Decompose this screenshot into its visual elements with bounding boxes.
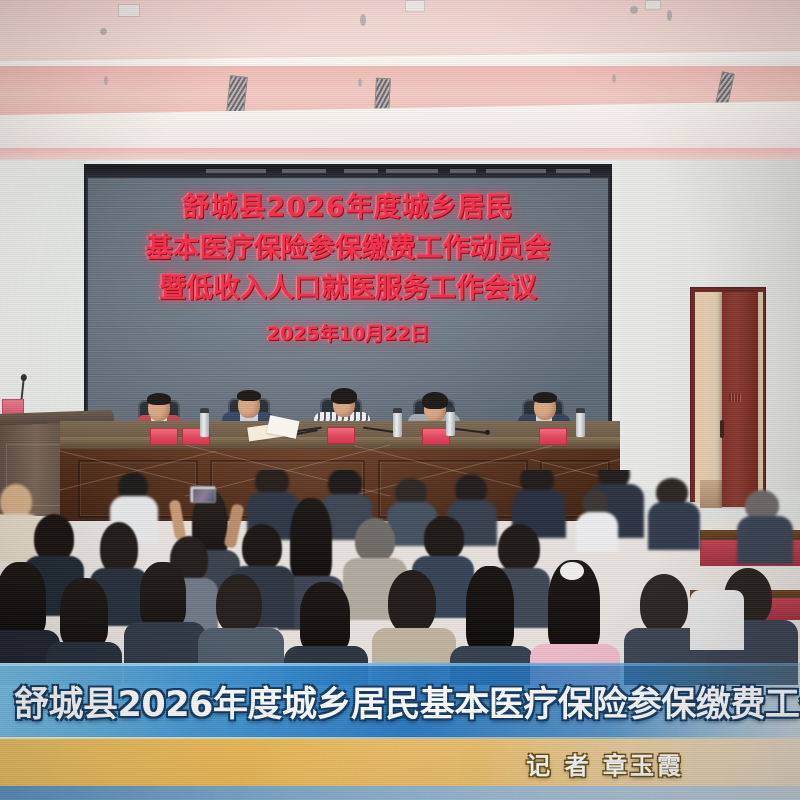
banner-text-block: 舒城县2026年度城乡居民 基本医疗保险参保缴费工作动员会 暨低收入人口就医服务…	[88, 194, 608, 344]
door-sign-icon	[729, 393, 741, 402]
banner-line-1: 舒城县2026年度城乡居民	[92, 194, 604, 222]
ceiling-fixture-icon	[358, 78, 362, 87]
thermos-flask	[576, 412, 585, 437]
banner-line-3: 暨低收入人口就医服务工作会议	[92, 275, 604, 303]
nameplate	[327, 427, 355, 444]
ceiling-fixture-icon	[405, 0, 425, 12]
official-hair	[237, 390, 261, 401]
door-handle[interactable]	[720, 420, 724, 438]
reporter-credit: 记 者 章玉霞	[526, 742, 684, 784]
ceiling-fixture-icon	[104, 76, 108, 85]
banner-line-2: 基本医疗保险参保缴费工作动员会	[92, 235, 604, 263]
hair-scrunchie	[560, 562, 584, 580]
official-hair	[422, 392, 448, 409]
ceiling-fixture-icon	[612, 74, 616, 83]
official-hair	[533, 392, 557, 403]
lower-third-bottom-strip	[0, 786, 800, 800]
thermos-flask	[200, 412, 209, 437]
official-hair	[331, 388, 357, 404]
news-headline: 舒城县2026年度城乡居民基本医疗保险参保缴费工作动员会召开	[14, 668, 794, 734]
phone-screen	[193, 489, 215, 502]
thermos-flask	[393, 412, 402, 437]
ceiling-fixture-icon	[360, 14, 366, 26]
ceiling-fixture-icon	[645, 0, 661, 10]
led-screen-bezel	[86, 166, 610, 178]
official-hair	[147, 393, 171, 405]
nameplate	[150, 428, 178, 445]
lower-third-blue-highlight	[0, 663, 800, 666]
audience-area	[0, 470, 800, 685]
ceiling-fixture-icon	[118, 4, 140, 17]
smartphone	[190, 486, 216, 503]
audience-arm	[169, 499, 187, 540]
thermos-flask	[446, 411, 455, 436]
banner-date: 2025年10月22日	[92, 325, 604, 344]
ceiling-fixture-icon	[100, 28, 107, 35]
nameplate	[539, 428, 567, 445]
broadcast-frame: 舒城县2026年度城乡居民 基本医疗保险参保缴费工作动员会 暨低收入人口就医服务…	[0, 0, 800, 800]
ceiling-fixture-icon	[667, 10, 672, 21]
ceiling-fixture-icon	[630, 6, 638, 14]
